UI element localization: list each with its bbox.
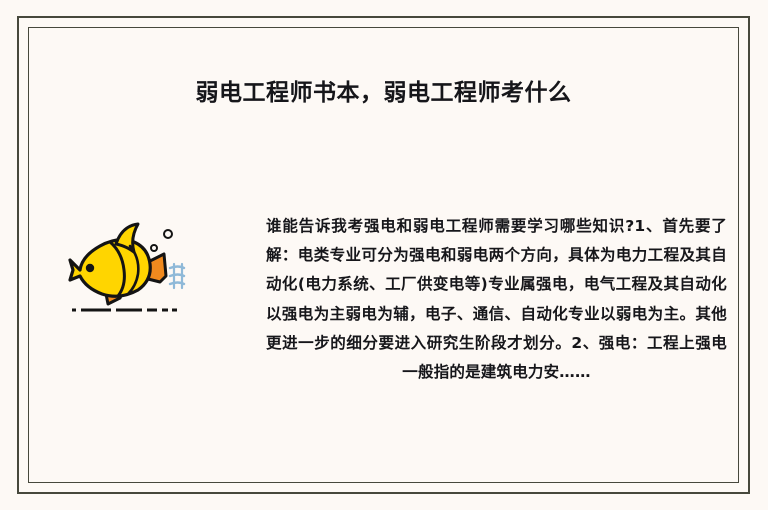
page-title: 弱电工程师书本，弱电工程师考什么 <box>28 78 739 108</box>
article-body: 谁能告诉我考强电和弱电工程师需要学习哪些知识?1、首先要了解：电类专业可分为强电… <box>266 212 727 387</box>
page-root: 弱电工程师书本，弱电工程师考什么 <box>0 0 768 510</box>
fish-illustration <box>60 218 190 318</box>
tropical-fish-icon <box>60 218 190 318</box>
